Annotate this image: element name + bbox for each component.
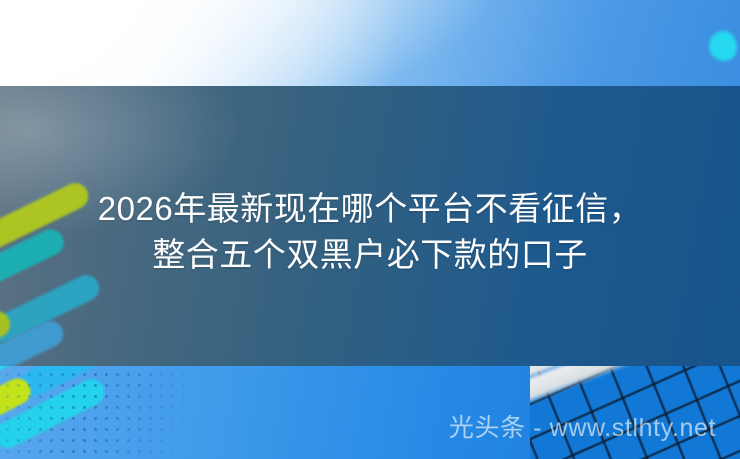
cyan-blob-decoration bbox=[709, 31, 737, 61]
banner-image: 2026年最新现在哪个平台不看征信， 整合五个双黑户必下款的口子 光头条 - w… bbox=[0, 0, 740, 459]
site-watermark: 光头条 - www.stlhty.net bbox=[0, 412, 716, 444]
headline-text: 2026年最新现在哪个平台不看征信， 整合五个双黑户必下款的口子 bbox=[0, 186, 740, 278]
